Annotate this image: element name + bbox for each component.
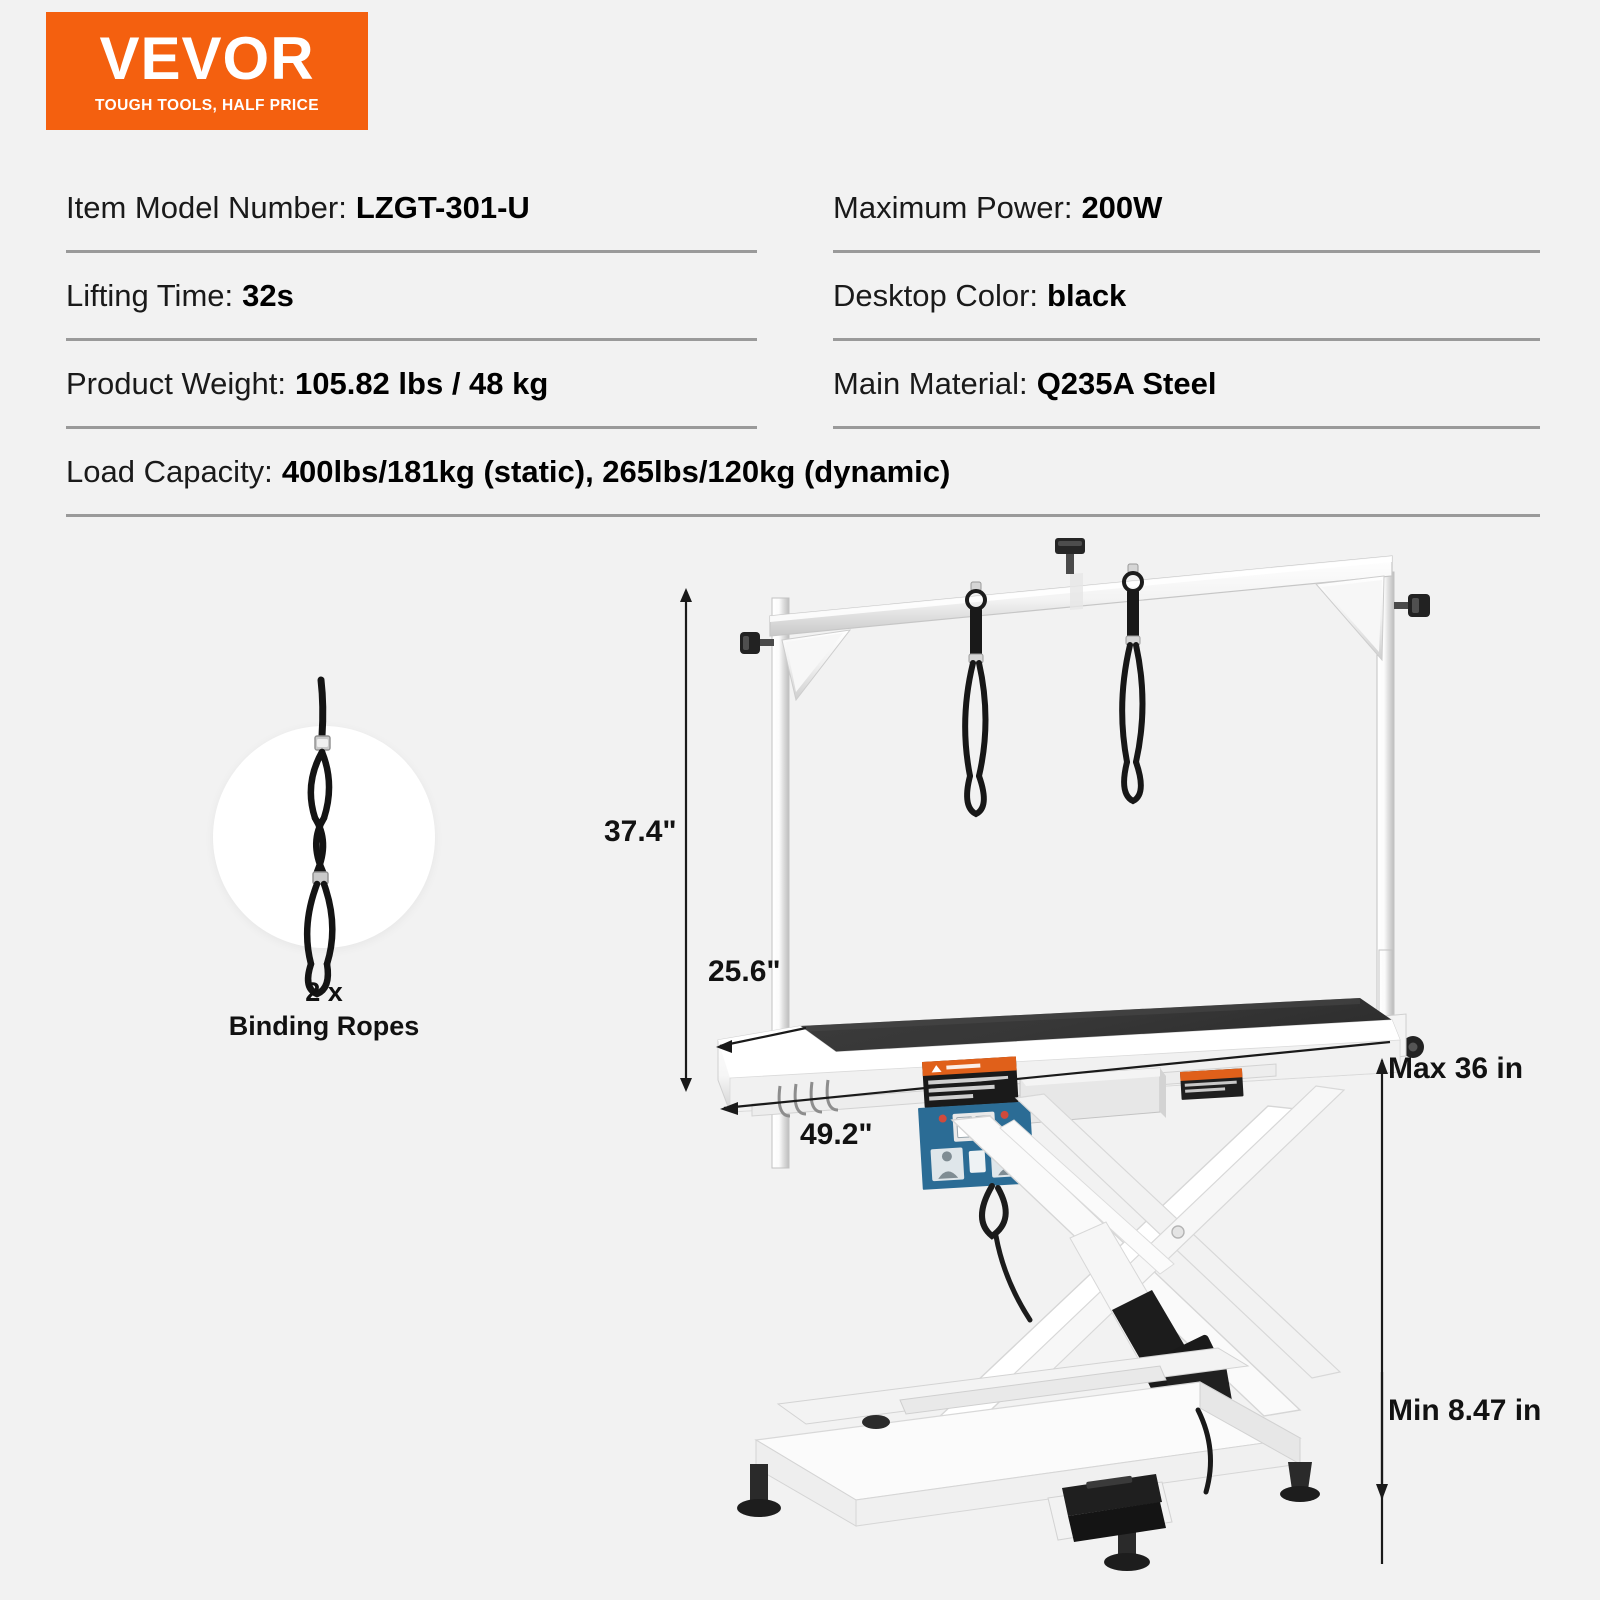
spec-row-weight: Product Weight: 105.82 lbs / 48 kg: [66, 341, 757, 429]
spec-row-model: Item Model Number: LZGT-301-U: [66, 165, 757, 253]
brand-logo: VEVOR TOUGH TOOLS, HALF PRICE: [46, 12, 368, 130]
spec-label-load-capacity: Load Capacity:: [66, 454, 273, 490]
dimension-label-min-height: Min 8.47 in: [1388, 1394, 1541, 1428]
brand-sticker-table: [1180, 1068, 1244, 1100]
rope-name-label: Binding Ropes: [163, 1009, 485, 1043]
left-knob-icon: [740, 632, 774, 654]
binding-rope-inset: [213, 726, 435, 948]
binding-rope-icon: [203, 676, 443, 1006]
dimension-label-width: 49.2": [800, 1118, 873, 1152]
specifications-table: Item Model Number: LZGT-301-U Lifting Ti…: [66, 165, 1540, 517]
spec-value-model: LZGT-301-U: [356, 190, 530, 226]
spec-row-desktop-color: Desktop Color: black: [833, 253, 1540, 341]
brand-name: VEVOR: [99, 29, 314, 89]
spec-label-desktop-color: Desktop Color:: [833, 278, 1038, 314]
spec-label-weight: Product Weight:: [66, 366, 286, 402]
spec-value-power: 200W: [1081, 190, 1162, 226]
dimension-label-max-height: Max 36 in: [1388, 1052, 1523, 1086]
dimension-label-depth: 25.6": [708, 955, 781, 989]
binding-rope-caption: 2 x Binding Ropes: [163, 975, 485, 1043]
dimension-line-min-height: [1376, 1372, 1388, 1500]
spec-value-desktop-color: black: [1047, 278, 1126, 314]
product-infographic: VEVOR TOUGH TOOLS, HALF PRICE Item Model…: [0, 0, 1600, 1600]
spec-label-material: Main Material:: [833, 366, 1028, 402]
right-knob-icon: [1394, 594, 1430, 617]
leveling-foot-right: [1280, 1462, 1320, 1502]
spec-value-load-capacity: 400lbs/181kg (static), 265lbs/120kg (dyn…: [282, 454, 951, 490]
spec-row-load-capacity: Load Capacity: 400lbs/181kg (static), 26…: [66, 429, 1540, 517]
spec-value-weight: 105.82 lbs / 48 kg: [295, 366, 548, 402]
spec-value-material: Q235A Steel: [1037, 366, 1217, 402]
brand-tagline: TOUGH TOOLS, HALF PRICE: [95, 98, 319, 114]
spec-value-lifting-time: 32s: [242, 278, 294, 314]
spec-row-lifting-time: Lifting Time: 32s: [66, 253, 757, 341]
top-knob-icon: [1055, 538, 1085, 574]
warning-sticker: [922, 1056, 1019, 1107]
spec-row-power: Maximum Power: 200W: [833, 165, 1540, 253]
spec-columns: Item Model Number: LZGT-301-U Lifting Ti…: [66, 165, 1540, 429]
rope-qty-label: 2 x: [163, 975, 485, 1009]
dimension-line-height: [680, 588, 692, 1092]
dimension-label-height: 37.4": [604, 815, 677, 849]
spec-column-left: Item Model Number: LZGT-301-U Lifting Ti…: [66, 165, 803, 429]
spec-label-lifting-time: Lifting Time:: [66, 278, 233, 314]
spec-label-model: Item Model Number:: [66, 190, 347, 226]
spec-column-right: Maximum Power: 200W Desktop Color: black…: [803, 165, 1540, 429]
spec-row-material: Main Material: Q235A Steel: [833, 341, 1540, 429]
spec-label-power: Maximum Power:: [833, 190, 1072, 226]
